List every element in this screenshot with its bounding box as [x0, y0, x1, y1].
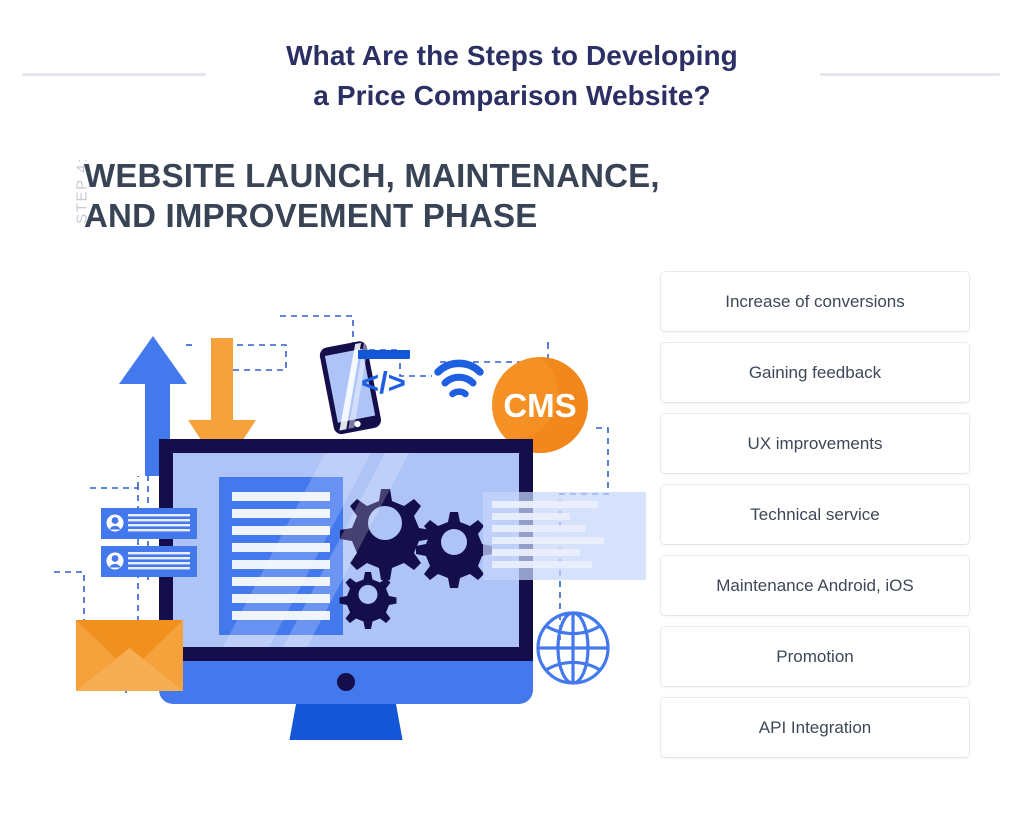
list-item[interactable]: Promotion	[661, 627, 969, 686]
list-item-label: UX improvements	[747, 434, 882, 454]
list-item[interactable]: Gaining feedback	[661, 343, 969, 402]
page-title-line-1: What Are the Steps to Developing	[286, 40, 738, 71]
monitor-stand	[252, 704, 440, 740]
list-item-label: Technical service	[750, 505, 879, 525]
list-item-label: Maintenance Android, iOS	[716, 576, 914, 596]
list-item[interactable]: Maintenance Android, iOS	[661, 556, 969, 615]
list-item[interactable]: UX improvements	[661, 414, 969, 473]
website-launch-illustration: </> CMS	[40, 280, 660, 740]
code-glyph-text: </>	[361, 365, 406, 400]
step-heading-block: STEP 4: WEBSITE LAUNCH, MAINTENANCE, AND…	[52, 152, 932, 248]
list-item-label: Gaining feedback	[749, 363, 881, 383]
wifi-icon	[438, 363, 480, 394]
monitor-illustration	[159, 439, 533, 740]
globe-icon	[538, 613, 608, 683]
list-item-label: Promotion	[776, 647, 853, 667]
page-title: What Are the Steps to Developing a Price…	[0, 36, 1024, 116]
list-item-label: Increase of conversions	[725, 292, 905, 312]
envelope-icon	[76, 620, 183, 691]
page-title-line-2: a Price Comparison Website?	[0, 76, 1024, 116]
step-title-line-1: WEBSITE LAUNCH, MAINTENANCE,	[84, 157, 660, 194]
list-item-label: API Integration	[759, 718, 871, 738]
list-item[interactable]: API Integration	[661, 698, 969, 757]
page-header: What Are the Steps to Developing a Price…	[0, 0, 1024, 130]
smartphone-code-icon: </>	[318, 339, 410, 435]
code-panel	[483, 492, 646, 580]
benefits-card-list: Increase of conversions Gaining feedback…	[661, 272, 969, 769]
cms-badge: CMS	[492, 357, 588, 453]
list-item[interactable]: Technical service	[661, 485, 969, 544]
step-title-line-2: AND IMPROVEMENT PHASE	[84, 196, 924, 236]
cms-badge-text: CMS	[503, 387, 576, 424]
monitor-power-dot	[337, 673, 355, 691]
step-title: WEBSITE LAUNCH, MAINTENANCE, AND IMPROVE…	[84, 156, 924, 236]
list-item[interactable]: Increase of conversions	[661, 272, 969, 331]
